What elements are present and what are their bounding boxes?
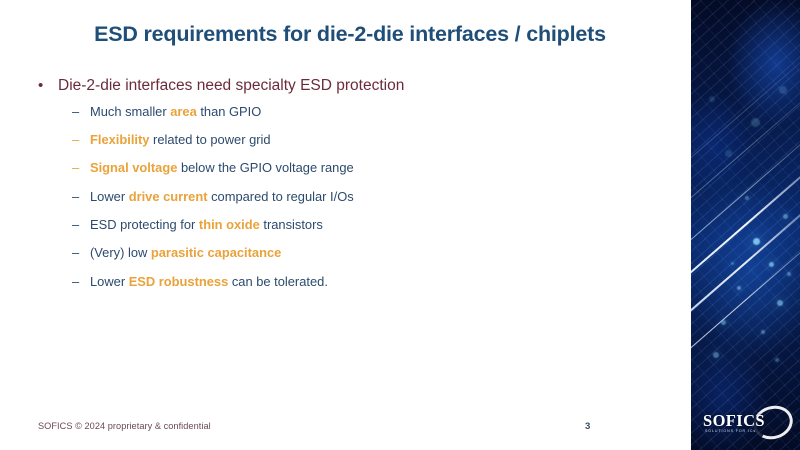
sub-bullet-item: –(Very) low parasitic capacitance [72, 245, 668, 262]
glow-dot-icon [709, 96, 715, 102]
dash-marker-icon: – [72, 104, 90, 121]
page-number: 3 [585, 421, 590, 432]
logo-tagline: SOLUTIONS FOR ICs [705, 429, 756, 433]
glow-dot-icon [751, 118, 760, 127]
glow-dot-icon [713, 352, 719, 358]
sub-bullet-text-pre: Lower [90, 274, 129, 289]
sub-bullet-item: –Much smaller area than GPIO [72, 104, 668, 121]
sub-bullet-item: –ESD protecting for thin oxide transisto… [72, 217, 668, 234]
sub-bullet-highlight: Signal voltage [90, 160, 177, 175]
glow-dot-icon [761, 330, 765, 334]
glow-dot-icon [779, 86, 787, 94]
sub-bullet-highlight: parasitic capacitance [151, 245, 281, 260]
sub-bullet-text: Flexibility related to power grid [90, 132, 271, 149]
sub-bullet-text: Much smaller area than GPIO [90, 104, 261, 121]
sub-bullet-text-post: compared to regular I/Os [208, 189, 354, 204]
sub-bullet-text-pre: (Very) low [90, 245, 151, 260]
dash-marker-icon: – [72, 189, 90, 206]
sub-bullet-item: –Lower drive current compared to regular… [72, 189, 668, 206]
glow-dot-icon [721, 320, 726, 325]
glow-dot-icon [731, 262, 734, 265]
slide: ESD requirements for die-2-die interface… [0, 0, 800, 450]
sub-bullet-text-post: related to power grid [149, 132, 270, 147]
logo-wordmark: SOFICS [703, 411, 765, 431]
sub-bullet-item: –Flexibility related to power grid [72, 132, 668, 149]
slide-body: • Die-2-die interfaces need specialty ES… [38, 76, 668, 302]
sub-bullet-text: (Very) low parasitic capacitance [90, 245, 281, 262]
sub-bullet-text-post: transistors [260, 217, 323, 232]
image-content: SOFICS SOLUTIONS FOR ICs [691, 0, 800, 450]
sofics-logo: SOFICS SOLUTIONS FOR ICs [703, 406, 791, 440]
sub-bullet-text-post: can be tolerated. [228, 274, 328, 289]
sub-bullet-highlight: Flexibility [90, 132, 149, 147]
glow-dot-icon [787, 272, 791, 276]
glow-dot-icon [775, 358, 779, 362]
sub-bullet-item: –Lower ESD robustness can be tolerated. [72, 274, 668, 291]
sub-bullet-text: Signal voltage below the GPIO voltage ra… [90, 160, 354, 177]
dash-marker-icon: – [72, 245, 90, 262]
dash-marker-icon: – [72, 274, 90, 291]
glow-dot-icon [753, 238, 760, 245]
sub-bullet-list: –Much smaller area than GPIO–Flexibility… [38, 104, 668, 290]
main-bullet-text: Die-2-die interfaces need specialty ESD … [58, 76, 404, 97]
sub-bullet-text: Lower ESD robustness can be tolerated. [90, 274, 328, 291]
circuit-board-image: SOFICS SOLUTIONS FOR ICs [688, 0, 800, 450]
footer-copyright: SOFICS © 2024 proprietary & confidential [38, 421, 211, 431]
sub-bullet-item: –Signal voltage below the GPIO voltage r… [72, 160, 668, 177]
glow-dot-icon [769, 262, 774, 267]
dash-marker-icon: – [72, 217, 90, 234]
glow-dot-icon [783, 214, 788, 219]
sub-bullet-highlight: drive current [129, 189, 208, 204]
sub-bullet-text-post: than GPIO [197, 104, 262, 119]
sub-bullet-highlight: thin oxide [199, 217, 260, 232]
sub-bullet-text-pre: Lower [90, 189, 129, 204]
dash-marker-icon: – [72, 160, 90, 177]
sub-bullet-text-post: below the GPIO voltage range [177, 160, 353, 175]
dash-marker-icon: – [72, 132, 90, 149]
sub-bullet-text-pre: ESD protecting for [90, 217, 199, 232]
glow-dot-icon [737, 286, 741, 290]
sub-bullet-highlight: area [170, 104, 197, 119]
glow-dot-icon [777, 300, 783, 306]
glow-dot-icon [725, 150, 732, 157]
glow-dot-icon [745, 196, 749, 200]
sub-bullet-text: ESD protecting for thin oxide transistor… [90, 217, 323, 234]
image-left-margin [688, 0, 691, 450]
sub-bullet-text-pre: Much smaller [90, 104, 170, 119]
page-title: ESD requirements for die-2-die interface… [40, 22, 660, 47]
sub-bullet-text: Lower drive current compared to regular … [90, 189, 354, 206]
main-bullet-item: • Die-2-die interfaces need specialty ES… [38, 76, 668, 97]
sub-bullet-highlight: ESD robustness [129, 274, 229, 289]
bullet-dot-icon: • [38, 76, 58, 96]
